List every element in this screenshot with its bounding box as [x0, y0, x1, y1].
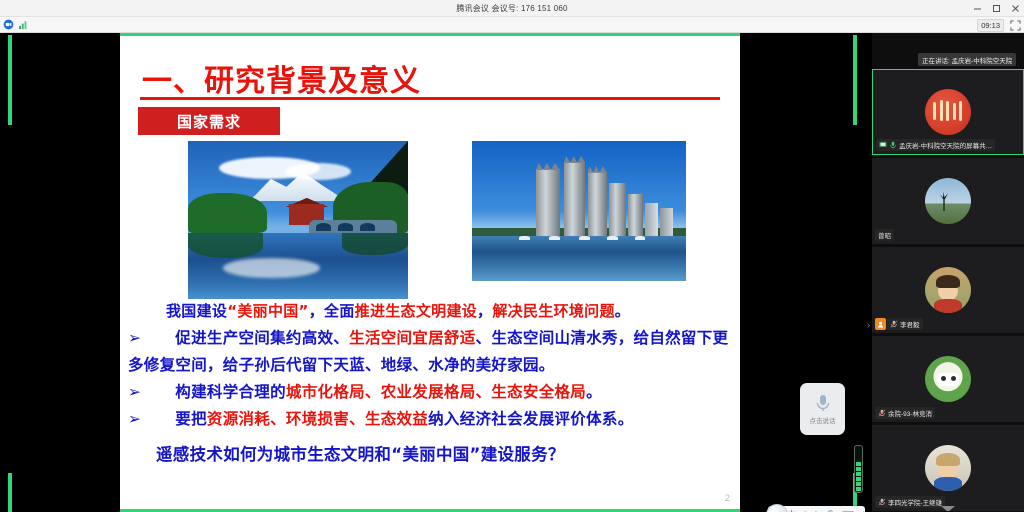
- participant-name: 李四光学院-王继雄: [888, 497, 942, 507]
- participant-name: 曾昭: [878, 230, 891, 240]
- avatar: [925, 445, 971, 491]
- text-segment: “美丽中国”: [227, 302, 309, 320]
- boat-5: [635, 236, 646, 240]
- text-segment: 推进生态文明建设: [355, 302, 477, 320]
- meeting-window: 腾讯会议 会议号: 176 151 060: [0, 0, 1024, 512]
- tower-4: [609, 183, 626, 236]
- close-icon[interactable]: [1011, 4, 1020, 13]
- text-segment: ，全面: [309, 302, 355, 320]
- sub-toolbar-left-icons: [0, 19, 29, 30]
- boat-3: [579, 236, 590, 240]
- avatar: [925, 89, 971, 135]
- mic-muted-icon: [890, 320, 898, 328]
- sub-toolbar-right: 09:13: [977, 17, 1021, 33]
- text-segment: ，: [477, 302, 492, 320]
- push-to-talk-label: 点击说话: [810, 415, 836, 425]
- tower-7: [660, 208, 673, 236]
- tree-reflection-right: [342, 233, 408, 255]
- share-border-marker-top-left: [8, 35, 12, 125]
- cloud-shape-2: [285, 163, 351, 180]
- tower-5: [628, 194, 643, 236]
- participant-name: 李君毅: [900, 319, 920, 329]
- avatar-body: [934, 477, 962, 491]
- participant-tile[interactable]: 曾昭: [872, 158, 1024, 244]
- section-badge-label: 国家需求: [177, 111, 241, 132]
- collapse-rail-arrow[interactable]: ›: [864, 316, 872, 334]
- bullet-icon: ➢: [128, 410, 141, 428]
- ime-toolbar[interactable]: 搜狗 中 ☽ °, 🎙 ⌨ ⚙: [768, 506, 865, 512]
- text-segment: 促进生产空间集约高效、: [175, 329, 349, 347]
- bridge-arch-1: [316, 223, 331, 231]
- avatar: [925, 178, 971, 224]
- slide-line-4: ➢要把资源消耗、环境损害、生态效益纳入经济社会发展评价体系。: [128, 406, 732, 433]
- network-signal-icon[interactable]: [18, 19, 29, 30]
- avatar-hair: [936, 275, 960, 288]
- text-segment: 解决民生环境问题: [492, 302, 614, 320]
- text-segment: 纳入经济社会发展评价体系。: [428, 410, 633, 428]
- participant-tile[interactable]: 孟庆岩-中科院空天院的屏幕共…: [872, 69, 1024, 155]
- mic-muted-icon: [878, 498, 886, 506]
- slide-page-number: 2: [725, 493, 730, 503]
- participant-tile[interactable]: 李君毅: [872, 247, 1024, 333]
- tree-silhouette-icon: [939, 192, 949, 211]
- participant-name: 孟庆岩-中科院空天院的屏幕共…: [899, 140, 992, 150]
- participant-label: 李四光学院-王继雄: [875, 496, 945, 508]
- window-controls: [973, 0, 1020, 17]
- avatar-hair: [936, 453, 960, 466]
- mic-muted-icon: [878, 409, 886, 417]
- shared-screen-area: 一、研究背景及意义 国家需求: [0, 33, 872, 512]
- window-title-bar: 腾讯会议 会议号: 176 151 060: [0, 0, 1024, 17]
- slide-line-5: 遥感技术如何为城市生态文明和“美丽中国”建设服务？: [128, 441, 732, 468]
- share-border-marker-top-right: [853, 35, 857, 125]
- mic-on-icon: [889, 141, 897, 149]
- meeting-timer: 09:13: [977, 19, 1004, 32]
- participant-label: 李君毅: [887, 318, 923, 330]
- participant-rail[interactable]: 正在讲话: 孟庆岩-中科院空天院 孟庆岩-中科院: [872, 33, 1024, 512]
- participant-label: 曾昭: [875, 229, 894, 241]
- title-underline-rule: [140, 97, 720, 100]
- slide-line-1: 我国建设“美丽中国”，全面推进生态文明建设，解决民生环境问题。: [128, 298, 732, 325]
- bridge-arch-3: [360, 223, 375, 231]
- text-segment: 构建科学合理的: [175, 383, 286, 401]
- text-segment: 城市化格局、农业发展格局、生态安全格局: [286, 383, 586, 401]
- rail-scroll-caret[interactable]: [941, 506, 955, 511]
- participant-tile[interactable]: 李四光学院-王继雄: [872, 425, 1024, 511]
- screen-share-icon: [879, 141, 887, 149]
- avatar: [925, 267, 971, 313]
- share-border-marker-bottom-left: [8, 473, 12, 512]
- text-segment: 要把: [175, 410, 207, 428]
- river-water: [472, 236, 686, 281]
- avatar: [925, 356, 971, 402]
- slide-line-3: ➢构建科学合理的城市化格局、农业发展格局、生态安全格局。: [128, 379, 732, 406]
- ime-logo-icon[interactable]: 搜狗: [766, 504, 788, 512]
- meeting-app-icon[interactable]: [3, 19, 14, 30]
- meeting-sub-toolbar: 09:13: [0, 17, 1024, 33]
- section-badge: 国家需求: [138, 107, 280, 135]
- tower-1: [536, 169, 560, 236]
- text-segment: 我国建设: [166, 302, 227, 320]
- tower-3: [588, 172, 607, 236]
- microphone-icon: [814, 393, 832, 413]
- boat-4: [607, 236, 618, 240]
- participant-tile[interactable]: 余院-93-林竞消: [872, 336, 1024, 422]
- push-to-talk-widget[interactable]: 点击说话: [800, 383, 845, 435]
- tree-cluster-left: [188, 193, 267, 233]
- participant-label: 孟庆岩-中科院空天院的屏幕共…: [876, 139, 995, 151]
- slide-photo-city: [472, 141, 686, 281]
- slide-line-2: ➢促进生产空间集约高效、生活空间宜居舒适、生态空间山清水秀，给自然留下更多修复空…: [128, 325, 732, 379]
- maximize-icon[interactable]: [992, 4, 1001, 13]
- tree-reflection-left: [188, 233, 263, 258]
- slide-body-text: 我国建设“美丽中国”，全面推进生态文明建设，解决民生环境问题。 ➢促进生产空间集…: [120, 298, 740, 468]
- active-speaker-tooltip: 正在讲话: 孟庆岩-中科院空天院: [918, 53, 1016, 66]
- avatar-body: [934, 299, 962, 313]
- boat-2: [549, 236, 560, 240]
- text-segment: 。: [615, 302, 630, 320]
- city-photo-canvas: [472, 141, 686, 281]
- boat-1: [519, 236, 530, 240]
- bridge-arch-2: [338, 223, 353, 231]
- text-segment: 。: [586, 383, 602, 401]
- host-badge: [875, 318, 886, 330]
- participant-name: 余院-93-林竞消: [888, 408, 932, 418]
- slide-title: 一、研究背景及意义: [142, 56, 421, 100]
- presentation-slide: 一、研究背景及意义 国家需求: [120, 36, 740, 509]
- text-segment: 资源消耗、环境损害、生态效益: [207, 410, 428, 428]
- slide-photo-nature: [188, 141, 408, 299]
- participant-label: 余院-93-林竞消: [875, 407, 935, 419]
- tower-2: [564, 162, 585, 236]
- bullet-icon: ➢: [128, 329, 141, 347]
- minimize-icon[interactable]: [973, 4, 982, 13]
- text-segment: 遥感技术如何为城市生态文明和“美丽中国”建设服务？: [156, 445, 565, 464]
- fullscreen-icon[interactable]: [1010, 20, 1021, 31]
- nature-photo-canvas: [188, 141, 408, 299]
- window-title: 腾讯会议 会议号: 176 151 060: [456, 3, 567, 14]
- bullet-icon: ➢: [128, 383, 141, 401]
- text-segment: 生活空间宜居舒适: [349, 329, 475, 347]
- tower-6: [645, 203, 658, 237]
- volume-level-meter: [854, 445, 863, 493]
